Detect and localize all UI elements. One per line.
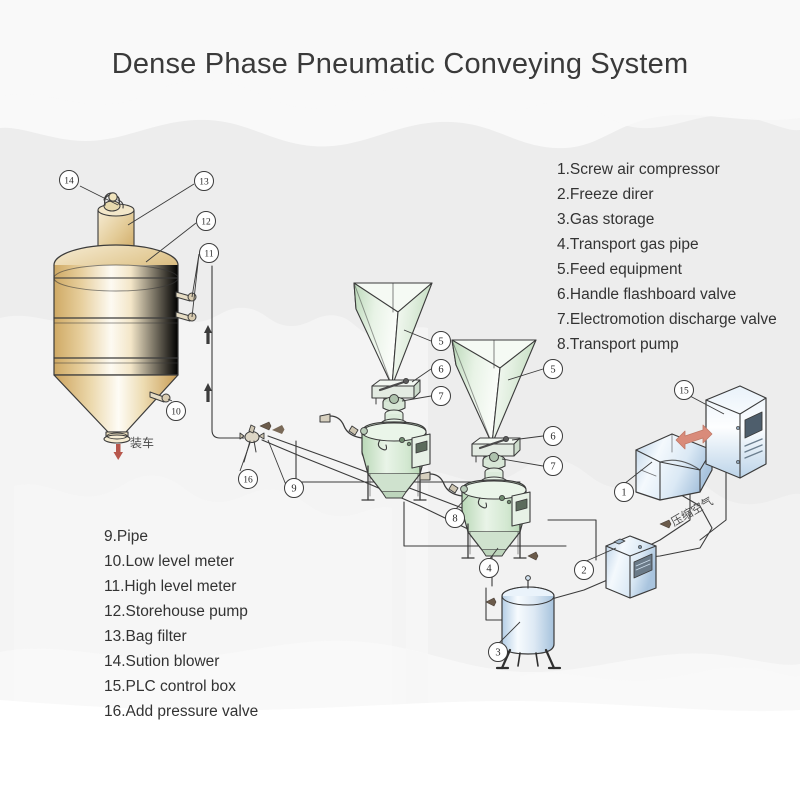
- plc-control-box: [706, 386, 766, 478]
- callout-number: 3: [495, 648, 500, 659]
- legend-item-11: 11.High level meter: [104, 574, 258, 599]
- legend-item-9: 9.Pipe: [104, 524, 258, 549]
- loading-label: 装车: [130, 434, 154, 451]
- freeze-drier: [606, 536, 656, 598]
- add-pressure-valve: [240, 425, 264, 462]
- feed-equipment-1: [354, 283, 432, 386]
- callout-number: 7: [438, 392, 443, 403]
- callout-9: 9: [285, 479, 304, 498]
- callout-number: 2: [581, 566, 586, 577]
- callout-number: 10: [171, 408, 181, 418]
- legend-item-15: 15.PLC control box: [104, 674, 258, 699]
- callout-15: 15: [675, 381, 694, 400]
- callout-number: 5: [550, 365, 555, 376]
- callout-14: 14: [60, 171, 79, 190]
- legend-item-16: 16.Add pressure valve: [104, 699, 258, 724]
- legend-item-12: 12.Storehouse pump: [104, 599, 258, 624]
- callout-number: 16: [243, 476, 253, 486]
- screw-air-compressor: [636, 434, 712, 500]
- legend-item-13: 13.Bag filter: [104, 624, 258, 649]
- feed-equipment-2: [452, 340, 536, 444]
- callout-7: 7: [544, 457, 563, 476]
- callout-5: 5: [432, 332, 451, 351]
- legend-item-14: 14.Sution blower: [104, 649, 258, 674]
- callout-7: 7: [432, 387, 451, 406]
- legend-item-2: 2.Freeze direr: [557, 182, 777, 207]
- legend-item-1: 1.Screw air compressor: [557, 157, 777, 182]
- callout-3: 3: [489, 643, 508, 662]
- callout-number: 14: [64, 177, 74, 187]
- callout-number: 8: [452, 514, 457, 525]
- legend-item-5: 5.Feed equipment: [557, 257, 777, 282]
- callout-number: 6: [550, 432, 555, 443]
- valve-marker-icon: [272, 425, 285, 434]
- callout-6: 6: [432, 360, 451, 379]
- callout-11: 11: [200, 244, 219, 263]
- legend-item-6: 6.Handle flashboard valve: [557, 282, 777, 307]
- callout-1: 1: [615, 483, 634, 502]
- callout-13: 13: [195, 172, 214, 191]
- callout-2: 2: [575, 561, 594, 580]
- callout-5: 5: [544, 360, 563, 379]
- diagram-canvas: 12345675678910111213141516 Dense Phase P…: [0, 0, 800, 800]
- callout-number: 12: [201, 218, 211, 228]
- callout-number: 4: [486, 564, 492, 575]
- callout-number: 1: [621, 488, 626, 499]
- callout-number: 9: [291, 484, 296, 495]
- callout-number: 7: [550, 462, 555, 473]
- flow-arrow-icon: [204, 325, 212, 402]
- callout-4: 4: [480, 559, 499, 578]
- legend-list-left: 9.Pipe 10.Low level meter 11.High level …: [104, 524, 258, 724]
- callout-8: 8: [446, 509, 465, 528]
- legend-item-4: 4.Transport gas pipe: [557, 232, 777, 257]
- page-title: Dense Phase Pneumatic Conveying System: [0, 48, 800, 81]
- callout-16: 16: [239, 470, 258, 489]
- callout-number: 5: [438, 337, 443, 348]
- legend-item-7: 7.Electromotion discharge valve: [557, 307, 777, 332]
- loading-arrow-icon: [114, 444, 124, 460]
- legend-item-10: 10.Low level meter: [104, 549, 258, 574]
- callout-number: 6: [438, 365, 443, 376]
- legend-list-right: 1.Screw air compressor 2.Freeze direr 3.…: [557, 157, 777, 357]
- legend-item-8: 8.Transport pump: [557, 332, 777, 357]
- callout-number: 13: [199, 178, 209, 188]
- callout-number: 11: [204, 250, 213, 260]
- callout-12: 12: [197, 212, 216, 231]
- legend-item-3: 3.Gas storage: [557, 207, 777, 232]
- callout-6: 6: [544, 427, 563, 446]
- callout-number: 15: [679, 387, 689, 397]
- callout-10: 10: [167, 402, 186, 421]
